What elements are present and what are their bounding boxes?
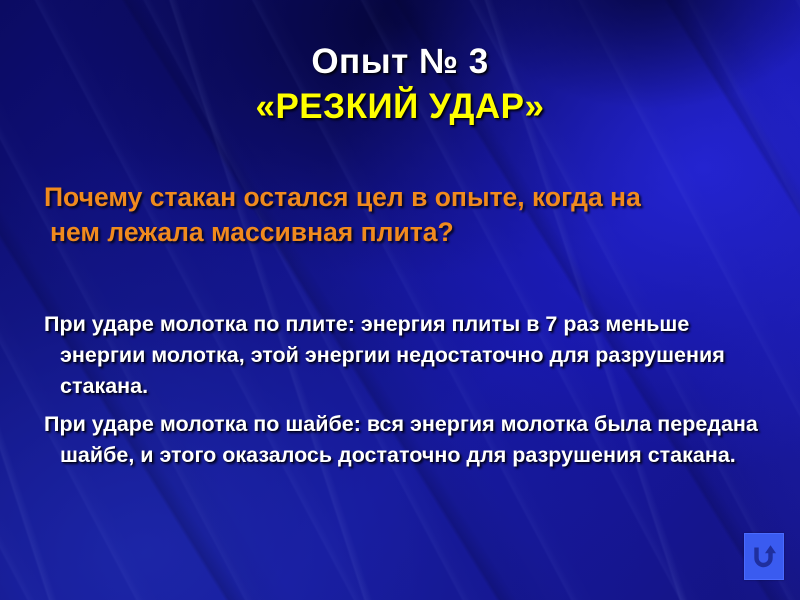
slide-content: Опыт № 3 «РЕЗКИЙ УДАР» Почему стакан ост… (0, 0, 800, 600)
body-paragraph: При ударе молотка по шайбе: вся энергия … (44, 409, 760, 471)
slide-title: Опыт № 3 (0, 42, 800, 81)
nav-return-button[interactable] (744, 533, 784, 580)
slide-subtitle: «РЕЗКИЙ УДАР» (0, 87, 800, 126)
body-paragraph: При ударе молотка по плите: энергия плит… (44, 309, 760, 402)
u-turn-arrow-icon (751, 543, 777, 571)
presentation-slide: Опыт № 3 «РЕЗКИЙ УДАР» Почему стакан ост… (0, 0, 800, 600)
question-text: Почему стакан остался цел в опыте, когда… (44, 180, 650, 250)
body-text-block: При ударе молотка по плите: энергия плит… (44, 309, 760, 471)
title-block: Опыт № 3 «РЕЗКИЙ УДАР» (0, 42, 800, 126)
